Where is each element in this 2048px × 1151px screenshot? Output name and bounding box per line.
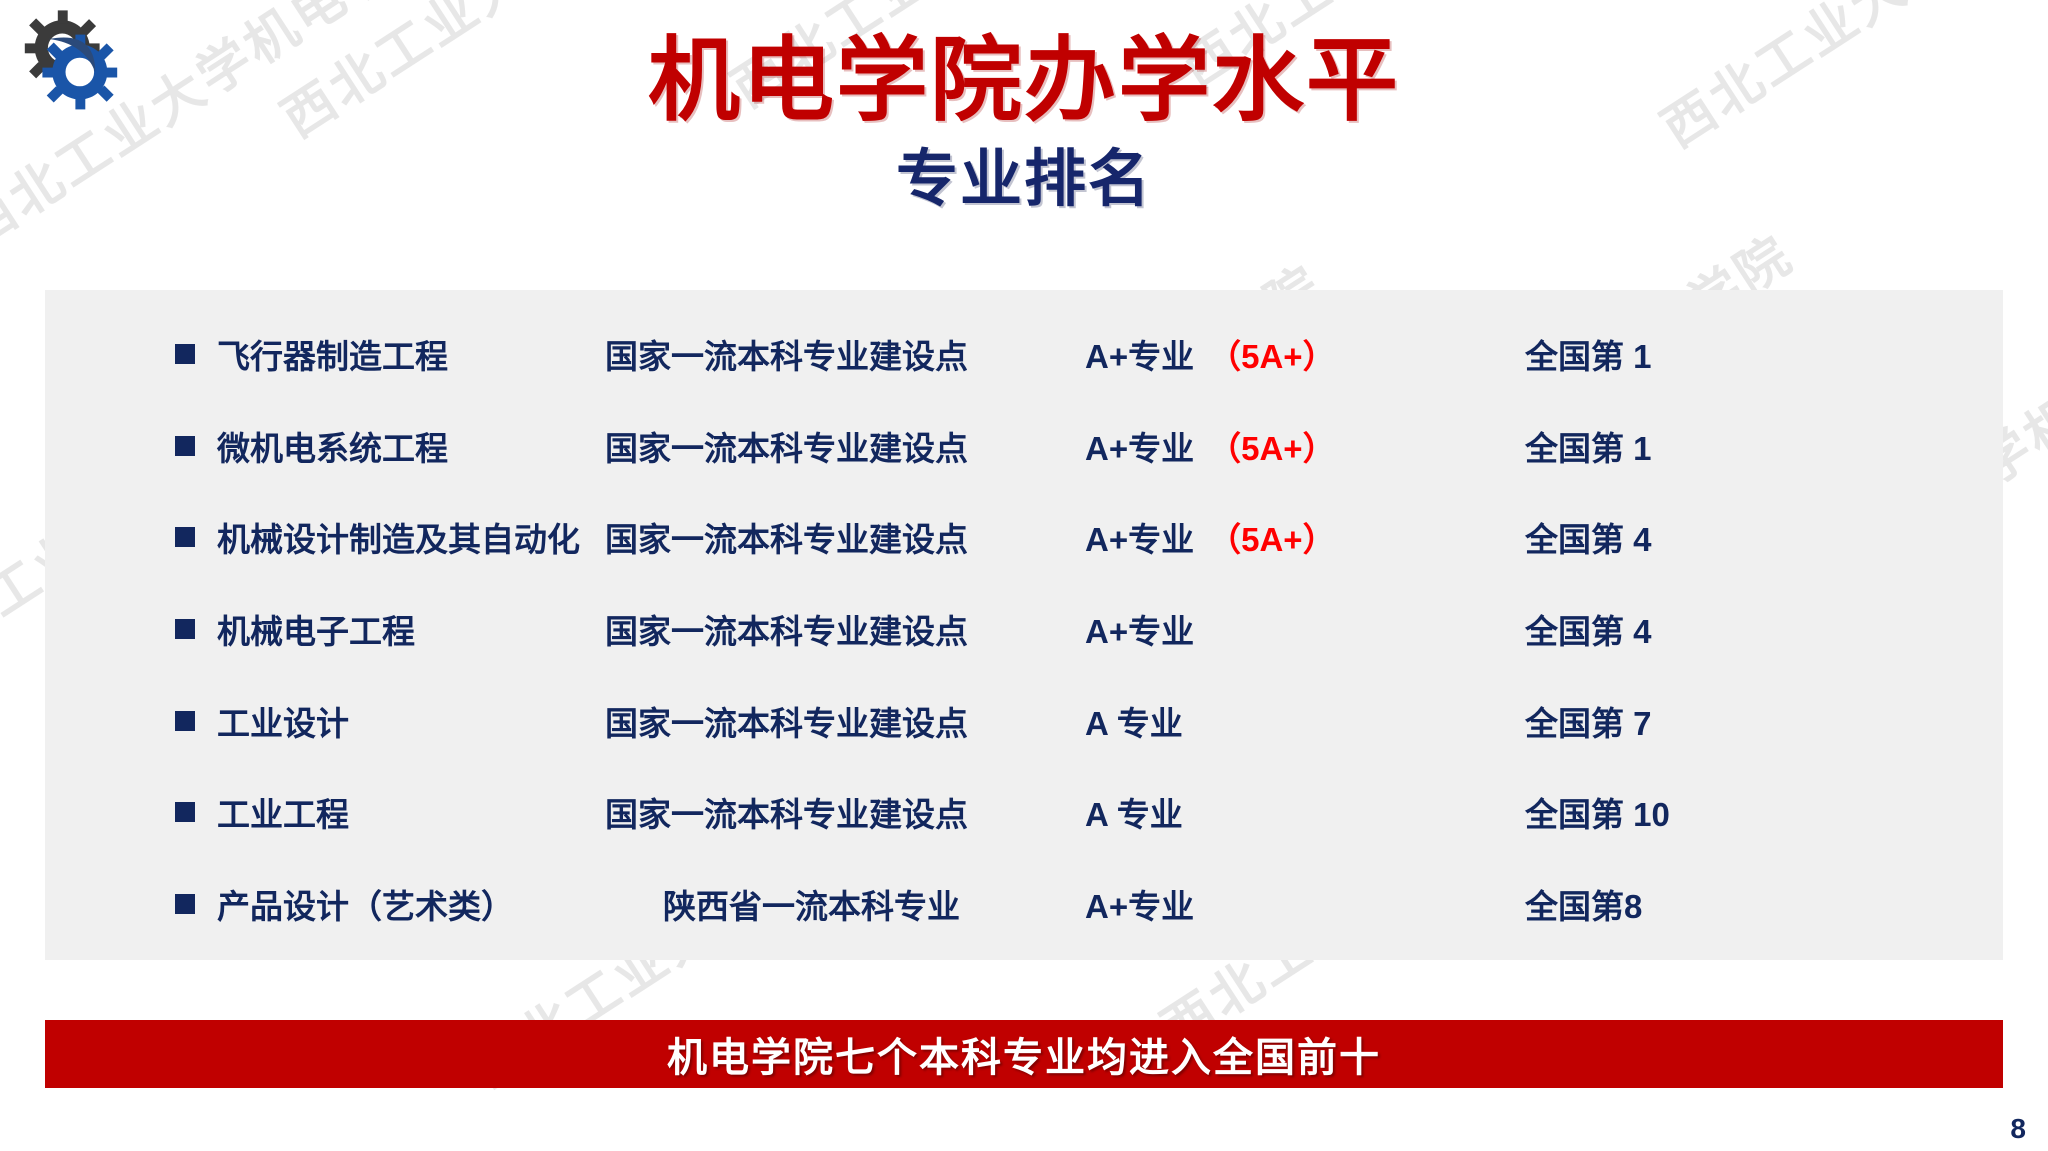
grade-cell: A+专业（5A+） <box>1085 422 1525 470</box>
rank-cell: 全国第8 <box>1525 880 1925 928</box>
grade-label: A 专业 <box>1085 705 1183 742</box>
major-label: 飞行器制造工程 <box>217 330 448 378</box>
summary-banner-text: 机电学院七个本科专业均进入全国前十 <box>667 1025 1381 1083</box>
grade-cell: A+专业（5A+） <box>1085 330 1525 378</box>
square-bullet-icon <box>175 711 195 731</box>
grade-label: A+专业 <box>1085 521 1194 558</box>
certification-cell: 国家一流本科专业建设点 <box>605 330 1085 378</box>
grade-label: A+专业 <box>1085 888 1194 925</box>
page-subtitle: 专业排名 <box>0 128 2048 218</box>
grade-note: （5A+） <box>1208 338 1335 375</box>
grade-label: A+专业 <box>1085 430 1194 467</box>
major-label: 工业工程 <box>217 788 349 836</box>
certification-cell: 国家一流本科专业建设点 <box>605 788 1085 836</box>
grade-label: A+专业 <box>1085 613 1194 650</box>
major-cell: 机械电子工程 <box>45 605 605 653</box>
table-row: 工业设计 国家一流本科专业建设点 A 专业 全国第 7 <box>45 684 2003 758</box>
summary-banner: 机电学院七个本科专业均进入全国前十 <box>45 1020 2003 1088</box>
major-label: 微机电系统工程 <box>217 422 448 470</box>
certification-cell: 国家一流本科专业建设点 <box>605 422 1085 470</box>
grade-label: A 专业 <box>1085 796 1183 833</box>
square-bullet-icon <box>175 527 195 547</box>
ranking-table-panel: 飞行器制造工程 国家一流本科专业建设点 A+专业（5A+） 全国第 1 微机电系… <box>45 290 2003 960</box>
table-row: 微机电系统工程 国家一流本科专业建设点 A+专业（5A+） 全国第 1 <box>45 409 2003 483</box>
grade-note: （5A+） <box>1208 521 1335 558</box>
certification-cell: 国家一流本科专业建设点 <box>605 605 1085 653</box>
certification-cell: 陕西省一流本科专业 <box>605 880 1085 928</box>
square-bullet-icon <box>175 802 195 822</box>
major-label: 工业设计 <box>217 697 349 745</box>
major-cell: 产品设计（艺术类） <box>45 880 605 928</box>
rank-cell: 全国第 4 <box>1525 605 1925 653</box>
square-bullet-icon <box>175 344 195 364</box>
square-bullet-icon <box>175 894 195 914</box>
page-number: 8 <box>2010 1113 2026 1145</box>
table-row: 产品设计（艺术类） 陕西省一流本科专业 A+专业 全国第8 <box>45 867 2003 941</box>
major-cell: 工业设计 <box>45 697 605 745</box>
table-row: 工业工程 国家一流本科专业建设点 A 专业 全国第 10 <box>45 775 2003 849</box>
table-row: 飞行器制造工程 国家一流本科专业建设点 A+专业（5A+） 全国第 1 <box>45 317 2003 391</box>
certification-cell: 国家一流本科专业建设点 <box>605 513 1085 561</box>
table-row: 机械电子工程 国家一流本科专业建设点 A+专业 全国第 4 <box>45 592 2003 666</box>
rank-cell: 全国第 4 <box>1525 513 1925 561</box>
major-label: 机械设计制造及其自动化 <box>217 513 580 561</box>
grade-cell: A 专业 <box>1085 788 1525 836</box>
page-title: 机电学院办学水平 <box>0 6 2048 139</box>
table-row: 机械设计制造及其自动化 国家一流本科专业建设点 A+专业（5A+） 全国第 4 <box>45 500 2003 574</box>
grade-cell: A+专业 <box>1085 880 1525 928</box>
rank-cell: 全国第 7 <box>1525 697 1925 745</box>
major-cell: 机械设计制造及其自动化 <box>45 513 605 561</box>
grade-cell: A 专业 <box>1085 697 1525 745</box>
major-label: 产品设计（艺术类） <box>217 880 514 928</box>
square-bullet-icon <box>175 619 195 639</box>
square-bullet-icon <box>175 436 195 456</box>
grade-note: （5A+） <box>1208 430 1335 467</box>
slide-root: 西北工业大学机电学院 西北工业大学机电学院 西北工业大学机电学院 西北工业大学机… <box>0 0 2048 1151</box>
grade-label: A+专业 <box>1085 338 1194 375</box>
major-label: 机械电子工程 <box>217 605 415 653</box>
rank-cell: 全国第 10 <box>1525 788 1925 836</box>
grade-cell: A+专业（5A+） <box>1085 513 1525 561</box>
major-cell: 飞行器制造工程 <box>45 330 605 378</box>
rank-cell: 全国第 1 <box>1525 330 1925 378</box>
rank-cell: 全国第 1 <box>1525 422 1925 470</box>
grade-cell: A+专业 <box>1085 605 1525 653</box>
major-cell: 工业工程 <box>45 788 605 836</box>
certification-cell: 国家一流本科专业建设点 <box>605 697 1085 745</box>
ranking-table-rows: 飞行器制造工程 国家一流本科专业建设点 A+专业（5A+） 全国第 1 微机电系… <box>45 290 2003 960</box>
major-cell: 微机电系统工程 <box>45 422 605 470</box>
